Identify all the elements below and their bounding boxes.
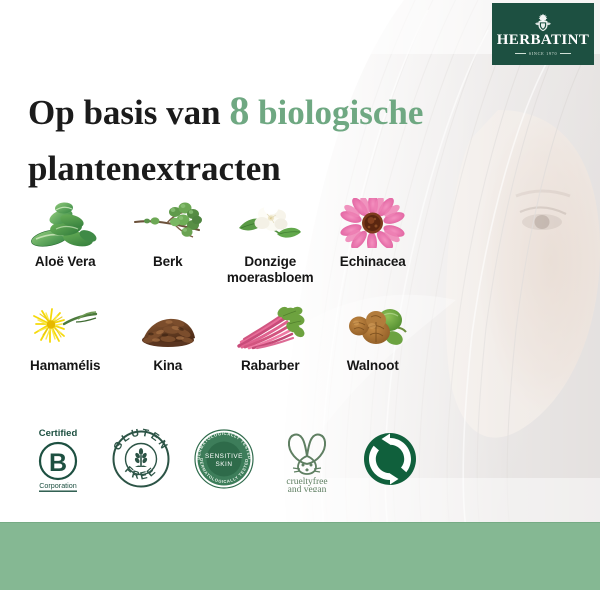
ingredient-label: Rabarber <box>241 358 299 374</box>
certification-badges: Certified B Corporation GLUTEN <box>16 424 434 494</box>
green-dot-recycling-badge[interactable] <box>348 431 431 487</box>
logo-rule-left <box>515 53 526 54</box>
ingredient-item-donzige-moerasbloem: Donzige moerasbloem <box>219 196 322 286</box>
gluten-free-badge[interactable]: GLUTEN FREE <box>99 427 182 491</box>
sensitive-skin-center-line2: SKIN <box>215 461 232 468</box>
logo-since-row: SINCE 1970 <box>515 51 572 56</box>
ingredient-label: Kina <box>153 358 182 374</box>
b-corp-top-text: Certified <box>38 428 77 439</box>
birch-branch-icon <box>128 196 208 248</box>
herbatint-logo[interactable]: HERBATINT SINCE 1970 <box>492 3 594 65</box>
certified-b-corporation-badge[interactable]: Certified B Corporation <box>16 424 99 494</box>
headline-part-1: Op basis van <box>28 93 229 132</box>
page-headline: Op basis van 8 biologische plantenextrac… <box>28 80 498 196</box>
ingredient-row-2: Hamamélis <box>14 300 424 374</box>
wheat-stalk-icon <box>133 448 147 467</box>
ingredient-row-1: Aloë Vera <box>14 196 424 286</box>
ingredient-label: Aloë Vera <box>35 254 96 270</box>
aloe-vera-icon <box>25 196 105 248</box>
ingredient-item-hamamelis: Hamamélis <box>14 300 117 374</box>
witch-hazel-icon <box>25 300 105 352</box>
bottom-green-bar <box>0 523 600 590</box>
ingredient-item-walnoot: Walnoot <box>322 300 425 374</box>
ingredient-grid: Aloë Vera <box>14 196 424 374</box>
sensitive-skin-center-line1: SENSITIVE <box>205 453 243 460</box>
logo-rule-right <box>560 53 571 54</box>
ingredient-item-aloe-vera: Aloë Vera <box>14 196 117 286</box>
ingredient-label: Hamamélis <box>30 358 100 374</box>
ingredient-item-kina: Kina <box>117 300 220 374</box>
sensitive-skin-badge[interactable]: DERMATOLOGICALLY TESTED DERMATOLOGICALLY… <box>182 428 265 490</box>
ingredient-label: Walnoot <box>347 358 399 374</box>
ingredient-item-echinacea: Echinacea <box>322 196 425 286</box>
b-corp-bottom-text: Corporation <box>39 481 77 490</box>
headline-number: 8 <box>229 88 249 133</box>
headline-part-2: biologische <box>249 93 423 132</box>
cruelty-free-and-vegan-badge[interactable]: crueltyfree and vegan <box>265 426 348 492</box>
herbatint-promo-poster: HERBATINT SINCE 1970 Op basis van 8 biol… <box>0 0 600 590</box>
walnut-icon <box>333 300 413 352</box>
b-corp-letter: B <box>48 449 66 477</box>
ingredient-label: Berk <box>153 254 183 270</box>
ingredient-item-rabarber: Rabarber <box>219 300 322 374</box>
marshmallow-flower-icon <box>230 196 310 248</box>
cruelty-free-line2: and vegan <box>287 485 326 492</box>
echinacea-flower-icon <box>333 196 413 248</box>
logo-tagline: SINCE 1970 <box>529 51 558 56</box>
rhubarb-icon <box>230 300 310 352</box>
logo-wordmark: HERBATINT <box>497 33 590 48</box>
ingredient-label-line2: moerasbloem <box>227 270 314 285</box>
ingredient-label: Donzige moerasbloem <box>227 254 314 286</box>
ingredient-label: Echinacea <box>340 254 406 270</box>
headline-line-2: plantenextracten <box>28 149 281 188</box>
ingredient-label-line1: Donzige <box>244 254 296 269</box>
crest-icon <box>533 13 553 32</box>
cinchona-bark-icon <box>128 300 208 352</box>
ingredient-item-berk: Berk <box>117 196 220 286</box>
